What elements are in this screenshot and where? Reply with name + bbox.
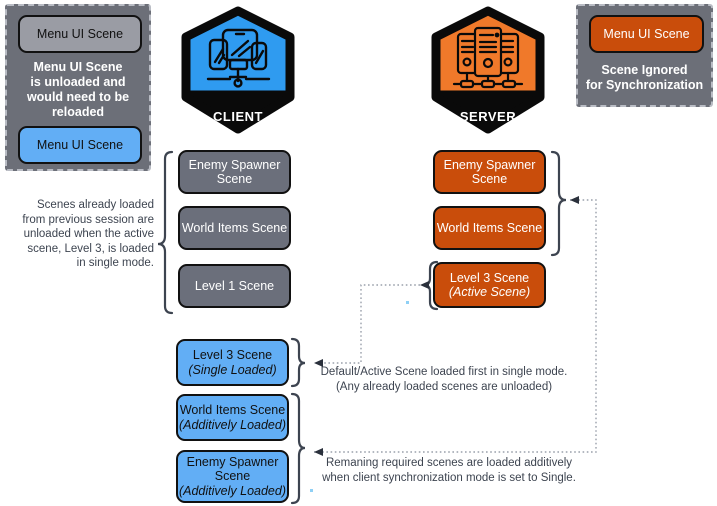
arrowhead-server-required: [570, 196, 579, 204]
client-badge-label: CLIENT: [178, 109, 298, 124]
brace-client-additive: [292, 394, 305, 503]
client-loaded-additive-1[interactable]: Enemy Spawner Scene (Additively Loaded): [176, 450, 289, 503]
scene-title: Menu UI Scene: [37, 27, 123, 42]
client-loaded-additive-0[interactable]: World Items Scene (Additively Loaded): [176, 394, 289, 441]
panel-note-left: Menu UI Scene is unloaded and would need…: [7, 60, 149, 120]
scene-title: Level 3 Scene: [193, 348, 272, 363]
arrowhead-server-active: [420, 281, 429, 289]
scene-title: World Items Scene: [182, 221, 287, 236]
scene-title: Enemy Spawner: [444, 158, 536, 173]
scene-title-line2: Scene: [217, 172, 252, 187]
panel-scene-unloaded[interactable]: Menu UI Scene: [18, 15, 142, 53]
brace-client-previous: [158, 152, 172, 313]
scene-title: World Items Scene: [437, 221, 542, 236]
scene-subtitle: (Active Scene): [449, 285, 530, 300]
client-loaded-single[interactable]: Level 3 Scene (Single Loaded): [176, 339, 289, 386]
client-prev-scene-0[interactable]: Enemy Spawner Scene: [178, 150, 291, 194]
server-scene-1[interactable]: World Items Scene: [433, 206, 546, 250]
server-badge[interactable]: SERVER: [428, 5, 548, 135]
brace-server-required: [552, 152, 566, 255]
client-prev-scene-1[interactable]: World Items Scene: [178, 206, 291, 250]
scene-title: Level 3 Scene: [450, 271, 529, 286]
scene-title: Enemy Spawner: [187, 455, 279, 470]
tick-mark-b: [310, 489, 313, 492]
diagram-canvas: Menu UI Scene Menu UI Scene is unloaded …: [0, 0, 717, 506]
arrowhead-additive-load: [314, 448, 323, 456]
scene-title: Enemy Spawner: [189, 158, 281, 173]
note-single-mode: Default/Active Scene loaded first in sin…: [316, 365, 572, 394]
client-ignored-panel: Menu UI Scene Menu UI Scene is unloaded …: [5, 4, 151, 171]
scene-subtitle: (Additively Loaded): [179, 484, 286, 499]
note-previous-session: Scenes already loaded from previous sess…: [12, 198, 154, 271]
scene-title: Level 1 Scene: [195, 279, 274, 294]
server-scene-0[interactable]: Enemy Spawner Scene: [433, 150, 546, 194]
brace-client-single: [292, 339, 305, 386]
client-prev-scene-2[interactable]: Level 1 Scene: [178, 264, 291, 308]
client-badge[interactable]: CLIENT: [178, 5, 298, 135]
scene-subtitle: (Single Loaded): [188, 363, 276, 378]
note-additive-mode: Remaning required scenes are loaded addi…: [318, 456, 580, 485]
server-ignored-panel: Menu UI Scene Scene Ignored for Synchron…: [576, 4, 713, 107]
panel-note-right: Scene Ignored for Synchronization: [578, 63, 711, 93]
panel-scene-ignored[interactable]: Menu UI Scene: [589, 15, 704, 53]
scene-subtitle: (Additively Loaded): [179, 418, 286, 433]
scene-title: Menu UI Scene: [603, 27, 689, 42]
scene-title: Menu UI Scene: [37, 138, 123, 153]
server-active-scene[interactable]: Level 3 Scene (Active Scene): [433, 262, 546, 308]
server-badge-label: SERVER: [428, 109, 548, 124]
tick-mark-a: [406, 301, 409, 304]
panel-scene-reloaded[interactable]: Menu UI Scene: [18, 126, 142, 164]
scene-title: World Items Scene: [180, 403, 285, 418]
scene-title-line2: Scene: [472, 172, 507, 187]
dotted-path-single-load: [314, 285, 420, 363]
scene-title-line2: Scene: [215, 469, 250, 484]
